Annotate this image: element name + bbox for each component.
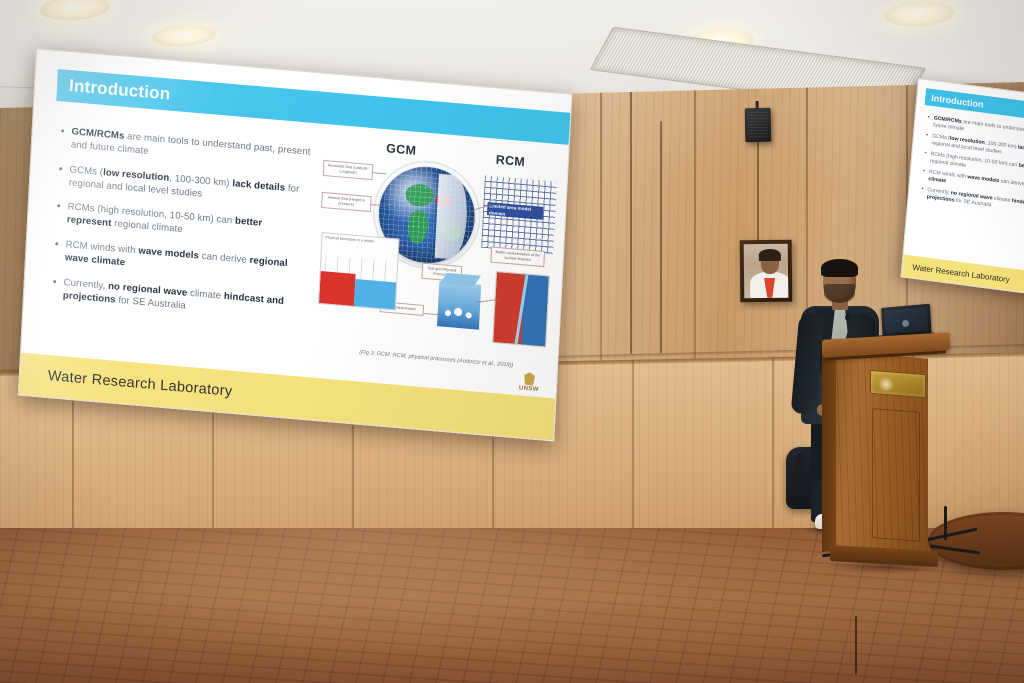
- projection-screen[interactable]: Introduction •GCM/RCMs are main tools to…: [18, 48, 573, 442]
- unsw-logo: UNSW: [516, 371, 543, 393]
- unsw-crest-icon: [524, 372, 536, 386]
- unsw-wordmark: UNSW: [516, 385, 542, 393]
- annotation-vertical-grid: Vertical Grid (Height or pressure): [321, 192, 372, 212]
- secondary-bullet-list: •GCM/RCMs are main tools to understand p…: [920, 115, 1024, 223]
- framed-portrait: [740, 240, 793, 303]
- bullet-text: RCM winds with wave models can derive re…: [65, 239, 307, 285]
- wall-speaker: [745, 108, 772, 142]
- gcm-rcm-diagram: GCM RCM Limited area model domain Horizo…: [314, 136, 556, 366]
- laptop-screen: [884, 307, 928, 332]
- bullet-marker-icon: •: [927, 115, 930, 128]
- leg-seam: [855, 616, 857, 674]
- dado-panel-seam: [772, 357, 774, 542]
- bullet-text: GCM/RCMs are main tools to understand pa…: [70, 126, 312, 172]
- bullet-text: Currently, no regional wave climate hind…: [63, 277, 305, 323]
- bullet-marker-icon: •: [54, 238, 59, 264]
- presenter-hair: [821, 259, 858, 277]
- cube-body: [437, 281, 481, 330]
- laptop-logo-icon: [901, 319, 908, 326]
- secondary-slide-surface: Introduction •GCM/RCMs are main tools to…: [901, 78, 1024, 298]
- secondary-projection-screen[interactable]: Introduction •GCM/RCMs are main tools to…: [901, 78, 1024, 298]
- presenter-beard: [824, 284, 855, 303]
- floor-cable: [944, 506, 947, 540]
- subgrid-cube-icon: [437, 272, 482, 330]
- speaker-bracket: [756, 101, 759, 109]
- wall-cable: [630, 92, 632, 354]
- lectern-inset-molding: [872, 408, 920, 542]
- conference-room-scene: Introduction •GCM/RCMs are main tools to…: [0, 0, 1024, 683]
- bullet-marker-icon: •: [922, 168, 925, 181]
- thumbnail-ocean-block: [354, 279, 396, 309]
- slide-title: Introduction: [57, 75, 171, 105]
- portrait-hair: [759, 249, 781, 261]
- lectern-emblem-icon: [879, 376, 893, 391]
- bullet-marker-icon: •: [56, 201, 61, 227]
- slide-footer-text: Water Research Laboratory: [20, 366, 233, 400]
- dado-panel-seam: [632, 360, 634, 545]
- wall-cable: [757, 125, 759, 243]
- wall-cable: [660, 121, 662, 353]
- bullet-item: •Currently, no regional wave climate hin…: [52, 276, 305, 323]
- bullet-marker-icon: •: [52, 276, 57, 302]
- lectern-plaque: [870, 370, 926, 399]
- slide-surface: Introduction •GCM/RCMs are main tools to…: [18, 48, 573, 442]
- speaker-mesh: [748, 112, 768, 137]
- bullet-marker-icon: •: [924, 150, 927, 163]
- slide-bullet-list: •GCM/RCMs are main tools to understand p…: [51, 125, 312, 335]
- microphone-head-icon: [845, 314, 852, 321]
- regional-map-thumbnail: [492, 271, 550, 348]
- physical-processes-thumbnail: Physical processes in a model: [318, 232, 400, 311]
- portrait-image: [744, 244, 789, 298]
- diagram-connector: [373, 172, 387, 174]
- bullet-marker-icon: •: [925, 132, 928, 145]
- lectern: [828, 336, 944, 566]
- bullet-marker-icon: •: [60, 125, 65, 151]
- rcm-label: RCM: [495, 153, 525, 169]
- bullet-text: RCMs (high resolution, 10-50 km) can bet…: [67, 202, 309, 248]
- secondary-slide-title: Introduction: [925, 92, 984, 110]
- diagram-connector: [424, 313, 440, 315]
- thumbnail-land-block: [319, 271, 356, 306]
- annotation-surface-features: Better representation of the surface fea…: [490, 247, 545, 268]
- annotation-horizontal-grid: Horizontal Grid (Latitude-Longitude): [323, 160, 374, 180]
- bullet-marker-icon: •: [920, 186, 923, 199]
- bullet-marker-icon: •: [58, 163, 63, 189]
- bullet-text: GCMs (low resolution, 100-300 km) lack d…: [68, 164, 310, 210]
- gcm-label: GCM: [386, 141, 417, 158]
- laptop-lid: [881, 304, 932, 337]
